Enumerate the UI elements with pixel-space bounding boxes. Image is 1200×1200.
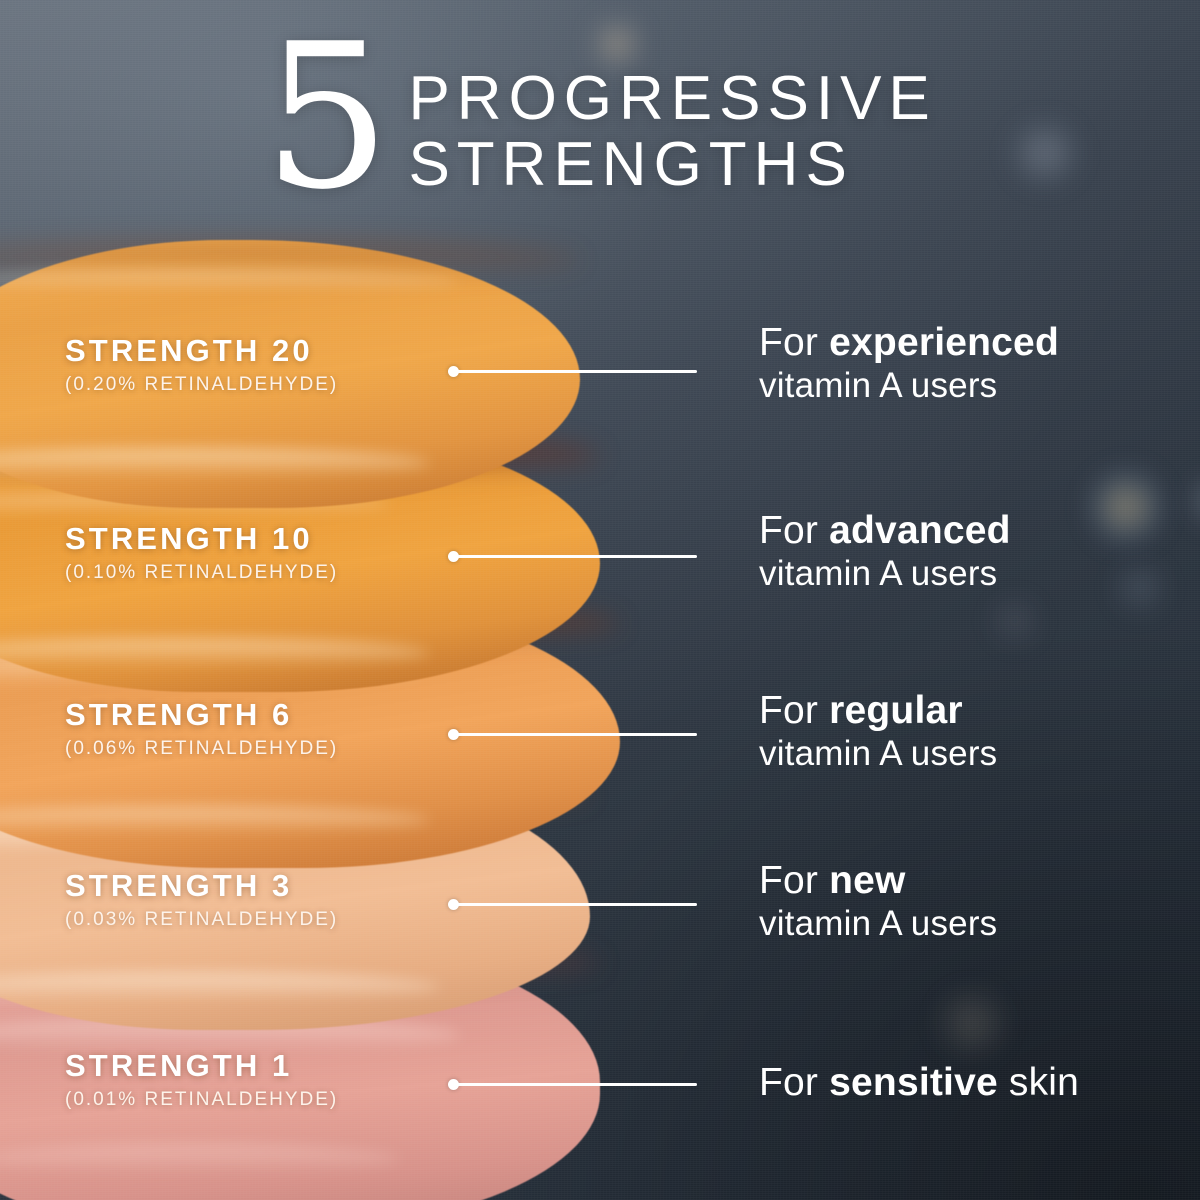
promo-graphic: 5 PROGRESSIVE STRENGTHS STRENGTH 20 (0.2… [0, 0, 1200, 1200]
film-grain-overlay [0, 0, 1200, 1200]
